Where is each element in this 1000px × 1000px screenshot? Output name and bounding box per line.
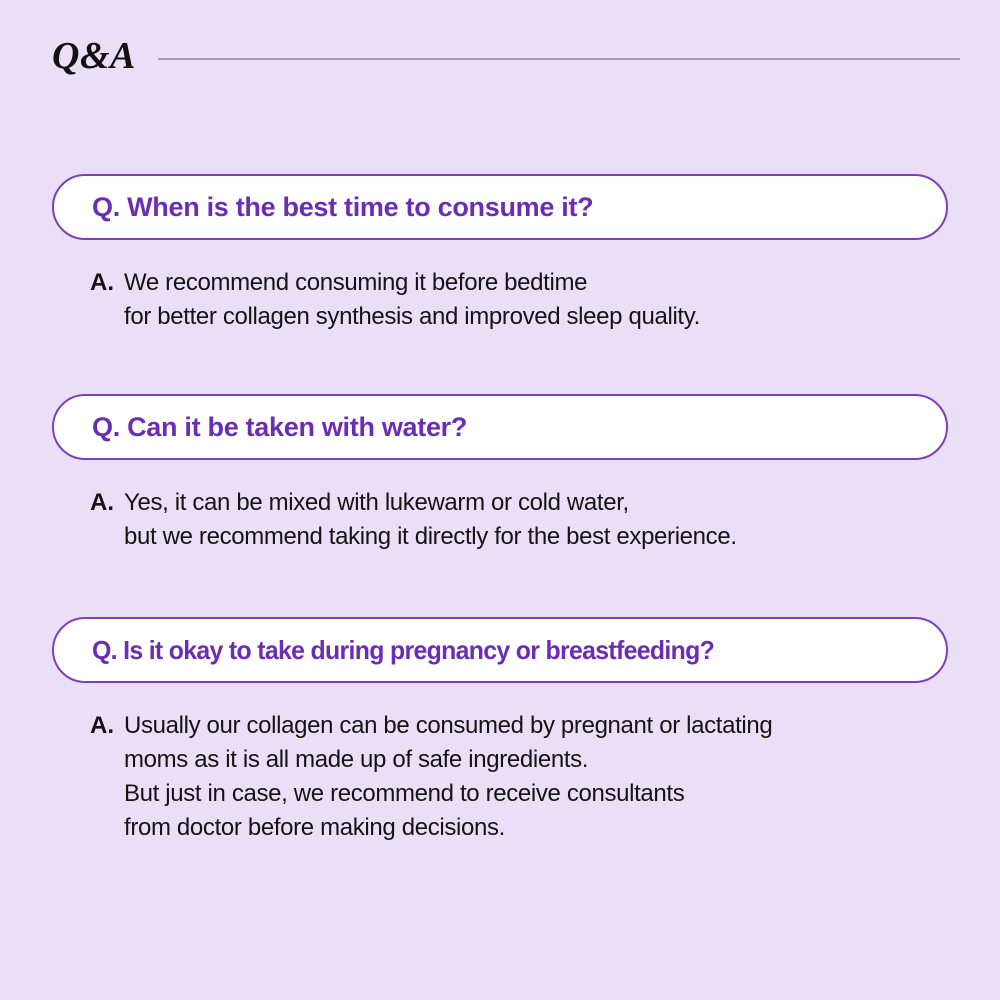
qa-block: Q. Can it be taken with water? A. Yes, i… [0,394,1000,554]
answer-body: Yes, it can be mixed with lukewarm or co… [124,486,737,554]
answer-body: We recommend consuming it before bedtime… [124,266,700,334]
answer-body: Usually our collagen can be consumed by … [124,709,772,845]
question-text: Q. Can it be taken with water? [92,414,467,441]
answer-line: But just in case, we recommend to receiv… [124,777,772,811]
question-text: Q. Is it okay to take during pregnancy o… [92,637,714,663]
answer-line: Usually our collagen can be consumed by … [124,709,772,743]
answer-line: moms as it is all made up of safe ingred… [124,743,772,777]
page-header: Q&A [52,33,960,79]
answer-label: A. [90,486,124,520]
question-box[interactable]: Q. Is it okay to take during pregnancy o… [52,617,948,683]
block-spacer [0,554,1000,617]
question-box[interactable]: Q. Can it be taken with water? [52,394,948,460]
answer-line: but we recommend taking it directly for … [124,520,737,554]
answer: A. Usually our collagen can be consumed … [52,683,948,845]
header-divider [158,58,960,60]
answer-line: for better collagen synthesis and improv… [124,300,700,334]
answer-line: Yes, it can be mixed with lukewarm or co… [124,486,737,520]
question-box[interactable]: Q. When is the best time to consume it? [52,174,948,240]
page-title: Q&A [52,37,136,75]
qa-block: Q. When is the best time to consume it? … [0,174,1000,334]
question-text: Q. When is the best time to consume it? [92,194,593,221]
block-spacer [0,334,1000,394]
answer-line: We recommend consuming it before bedtime [124,266,700,300]
qa-block: Q. Is it okay to take during pregnancy o… [0,617,1000,845]
answer-label: A. [90,709,124,743]
answer: A. We recommend consuming it before bedt… [52,240,948,334]
answer-label: A. [90,266,124,300]
qa-list: Q. When is the best time to consume it? … [0,174,1000,845]
answer: A. Yes, it can be mixed with lukewarm or… [52,460,948,554]
answer-line: from doctor before making decisions. [124,811,772,845]
